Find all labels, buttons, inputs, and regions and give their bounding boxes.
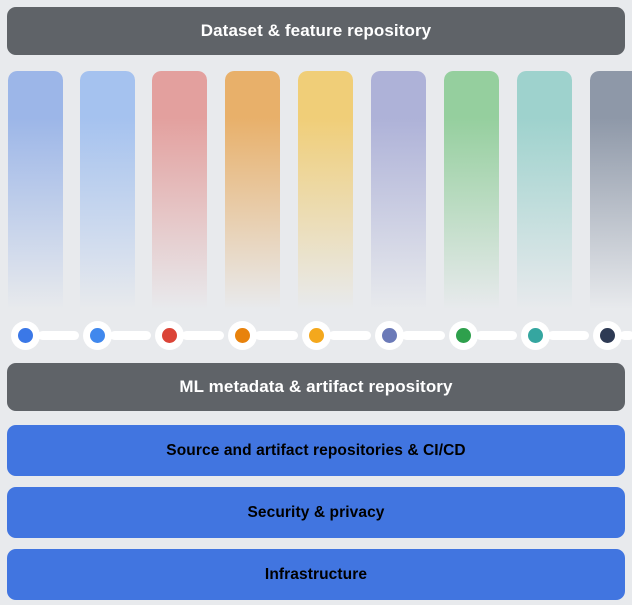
capability-connector-rail [0, 316, 632, 356]
capability-column[interactable]: Model evaluation [225, 71, 280, 330]
capability-column-gradient [152, 71, 207, 330]
capability-node-dot [528, 328, 543, 343]
capability-node-dot [162, 328, 177, 343]
capability-column[interactable]: Data processing [80, 71, 135, 330]
capability-column-gradient [298, 71, 353, 330]
infrastructure-label: Infrastructure [265, 566, 367, 584]
capability-node-dot [309, 328, 324, 343]
capability-column[interactable]: Model registry [590, 71, 632, 330]
rail-dash-stub [182, 331, 196, 340]
security-privacy-bar: Security & privacy [7, 487, 625, 538]
capability-node[interactable] [11, 321, 40, 350]
capability-column[interactable]: ML pipelines [517, 71, 572, 330]
infrastructure-bar: Infrastructure [7, 549, 625, 600]
ml-metadata-artifact-repository-bar: ML metadata & artifact repository [7, 363, 625, 411]
capability-node[interactable] [302, 321, 331, 350]
capability-node[interactable] [449, 321, 478, 350]
capability-node-dot [90, 328, 105, 343]
capability-column-gradient [517, 71, 572, 330]
source-artifact-repositories-cicd-label: Source and artifact repositories & CI/CD [166, 442, 465, 460]
rail-dash-stub [548, 331, 562, 340]
dataset-feature-repository-label: Dataset & feature repository [201, 21, 431, 41]
capability-node[interactable] [83, 321, 112, 350]
capability-node-dot [382, 328, 397, 343]
capability-column[interactable]: Model serving [298, 71, 353, 330]
capability-node-dot [18, 328, 33, 343]
capability-node-dot [235, 328, 250, 343]
rail-dash-stub [329, 331, 343, 340]
capability-column-gradient [371, 71, 426, 330]
capability-column-gradient [8, 71, 63, 330]
capability-node[interactable] [375, 321, 404, 350]
capability-node[interactable] [228, 321, 257, 350]
dataset-feature-repository-bar: Dataset & feature repository [7, 7, 625, 55]
capability-column-gradient [225, 71, 280, 330]
ml-metadata-artifact-repository-label: ML metadata & artifact repository [179, 377, 452, 397]
capability-columns: ExperimentationData processingModel trai… [0, 71, 632, 330]
capability-column[interactable]: Model training [152, 71, 207, 330]
rail-dash-stub [110, 331, 124, 340]
security-privacy-label: Security & privacy [247, 504, 384, 522]
capability-column-gradient [80, 71, 135, 330]
capability-node[interactable] [521, 321, 550, 350]
rail-dash-stub [255, 331, 269, 340]
capability-column[interactable]: Online experimentation [371, 71, 426, 330]
rail-dash-stub [476, 331, 490, 340]
capability-node[interactable] [155, 321, 184, 350]
capability-column[interactable]: Model monitoring [444, 71, 499, 330]
capability-node[interactable] [593, 321, 622, 350]
rail-dash-stub [38, 331, 52, 340]
capability-column-gradient [590, 71, 632, 330]
capability-node-dot [600, 328, 615, 343]
rail-dash-stub [402, 331, 416, 340]
capability-column-gradient [444, 71, 499, 330]
capability-column[interactable]: Experimentation [8, 71, 63, 330]
capability-node-dot [456, 328, 471, 343]
source-artifact-repositories-cicd-bar: Source and artifact repositories & CI/CD [7, 425, 625, 476]
mlops-stack-diagram: Dataset & feature repository Experimenta… [0, 0, 632, 605]
